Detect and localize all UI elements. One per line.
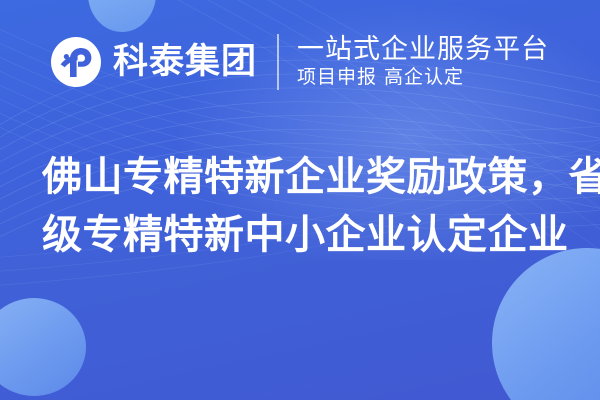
tagline-sub: 项目申报 高企认定 <box>297 68 549 88</box>
brand-name: 科泰集团 <box>113 45 257 80</box>
title-line-2: 级专精特新中小企业认定企业 <box>42 206 562 264</box>
banner-header: 科泰集团 一站式企业服务平台 项目申报 高企认定 <box>0 16 600 108</box>
ketai-circular-logo-icon <box>50 36 102 88</box>
brand-lockup: 科泰集团 <box>50 36 257 88</box>
header-divider <box>277 34 279 90</box>
title-line-1: 佛山专精特新企业奖励政策，省 <box>42 148 562 206</box>
page-title: 佛山专精特新企业奖励政策，省 级专精特新中小企业认定企业 <box>42 148 562 264</box>
tagline-block: 一站式企业服务平台 项目申报 高企认定 <box>297 36 549 87</box>
promotional-banner: 科泰集团 一站式企业服务平台 项目申报 高企认定 佛山专精特新企业奖励政策，省 … <box>0 0 600 400</box>
tagline-main: 一站式企业服务平台 <box>297 36 549 64</box>
